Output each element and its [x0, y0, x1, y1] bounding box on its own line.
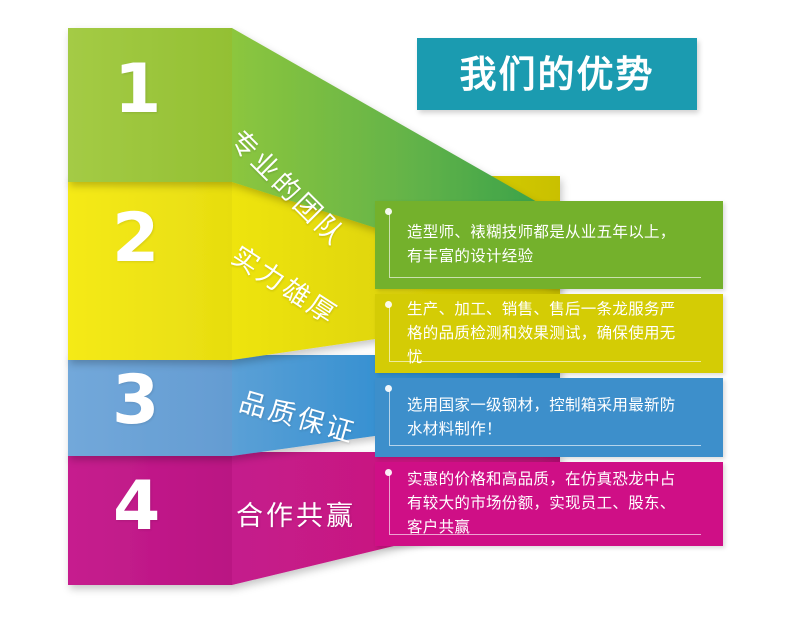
- description-text-2: 生产、加工、销售、售后一条龙服务严格的品质检测和效果测试，确保使用无忧: [407, 297, 689, 369]
- description-card-1[interactable]: 造型师、裱糊技师都是从业五年以上，有丰富的设计经验: [375, 201, 723, 289]
- description-card-2[interactable]: 生产、加工、销售、售后一条龙服务严格的品质检测和效果测试，确保使用无忧: [375, 294, 723, 373]
- description-text-4: 实惠的价格和高品质，在仿真恐龙中占有较大的市场份额，实现员工、股东、客户共赢: [407, 468, 689, 540]
- description-panel-2: 生产、加工、销售、售后一条龙服务严格的品质检测和效果测试，确保使用无忧: [375, 294, 723, 373]
- description-card-4[interactable]: 实惠的价格和高品质，在仿真恐龙中占有较大的市场份额，实现员工、股东、客户共赢: [375, 462, 723, 546]
- description-text-3: 选用国家一级钢材，控制箱采用最新防水材料制作！: [407, 393, 689, 441]
- description-card-3[interactable]: 选用国家一级钢材，控制箱采用最新防水材料制作！: [375, 378, 723, 457]
- description-panel-4: 实惠的价格和高品质，在仿真恐龙中占有较大的市场份额，实现员工、股东、客户共赢: [375, 462, 723, 546]
- description-text-1: 造型师、裱糊技师都是从业五年以上，有丰富的设计经验: [407, 221, 689, 269]
- description-panel-3: 选用国家一级钢材，控制箱采用最新防水材料制作！: [375, 378, 723, 457]
- description-panel-1: 造型师、裱糊技师都是从业五年以上，有丰富的设计经验: [375, 201, 723, 289]
- infographic-canvas: 我们的优势: [0, 0, 800, 622]
